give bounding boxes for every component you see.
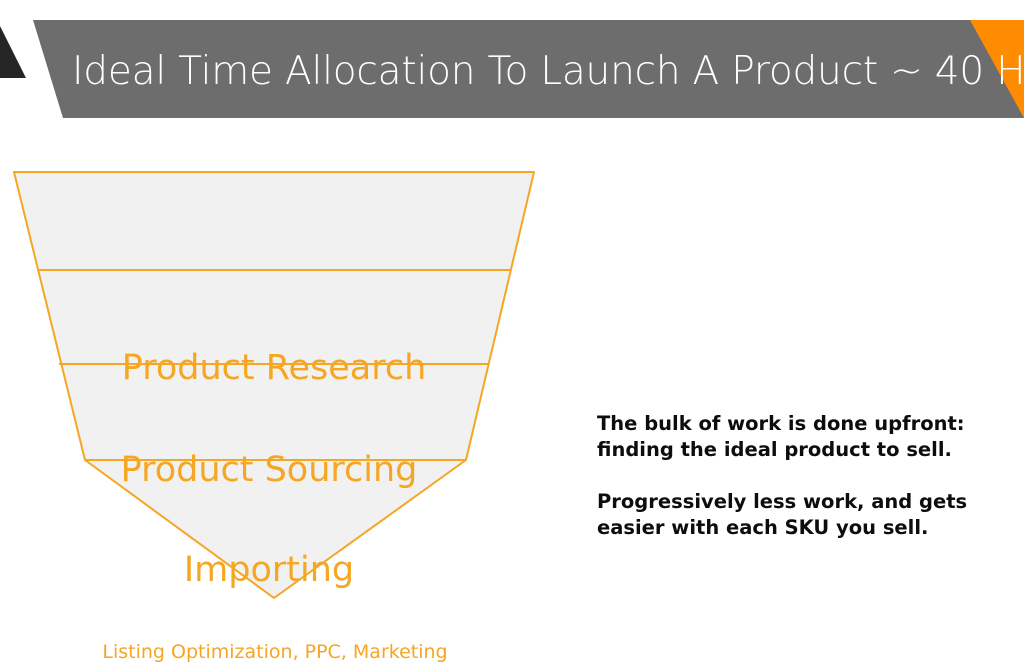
funnel-stage-label-listing-optimization: Listing Optimization, PPC, Marketing [90,639,460,666]
note-paragraph-two: Progressively less work, and gets easier… [597,489,1007,541]
slide-canvas: Ideal Time Allocation To Launch A Produc… [0,0,1024,604]
funnel-diagram: Product Research Product Sourcing Import… [0,150,560,604]
note-paragraph-one: The bulk of work is done upfront: findin… [597,411,1007,463]
funnel-stage-label-product-sourcing: Product Sourcing [14,448,524,492]
corner-triangle-icon [0,26,26,78]
funnel-stage-label-product-research: Product Research [14,346,534,390]
notes-block: The bulk of work is done upfront: findin… [597,411,1007,541]
page-title: Ideal Time Allocation To Launch A Produc… [72,46,952,98]
funnel-stage-label-importing: Importing [14,548,524,592]
header-banner: Ideal Time Allocation To Launch A Produc… [0,0,1024,130]
